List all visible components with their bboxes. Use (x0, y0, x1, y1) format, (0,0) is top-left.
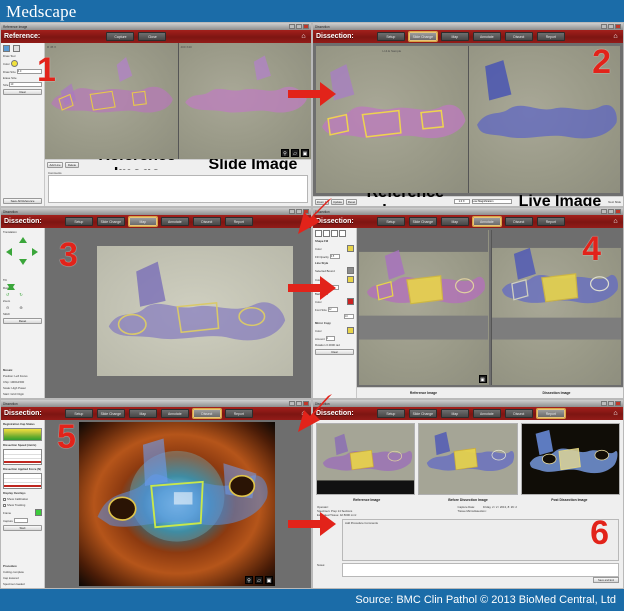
comments-placeholder: Add Procedure Comments (345, 521, 378, 525)
color-swatch-yellow[interactable] (347, 276, 354, 283)
registration-cap-status-title: Registration Cap Status (3, 422, 42, 426)
app-title: Dissection: (316, 33, 354, 40)
tissue-outline-svg (359, 230, 488, 340)
color-swatch-yellow[interactable] (11, 60, 18, 67)
app-bar: Dissection: Setup Slide Change Map Annot… (313, 407, 623, 420)
nav-left-icon[interactable] (6, 248, 12, 256)
window-buttons[interactable] (601, 401, 621, 406)
add-line-button[interactable]: Add Line (47, 162, 63, 168)
font-size-input[interactable]: 12 (328, 307, 338, 312)
app-toolbar: Setup Slide Change Map Annotate Dissect … (65, 409, 253, 418)
arrow-3-to-4 (286, 272, 338, 304)
thumbnail-before-dissection[interactable] (418, 423, 517, 495)
magnification-value[interactable]: 1.0 X (454, 199, 470, 204)
nav-up-icon[interactable] (19, 237, 27, 243)
tissue-overlay-svg (79, 422, 275, 577)
mosaic-status-line: Scale: High Power (3, 386, 42, 390)
dissection-image-caption: Dissection Image (490, 391, 623, 395)
tissue-outline-svg (97, 246, 293, 364)
rotate-cw-icon[interactable]: ↻ (19, 292, 22, 297)
callout-number-6: 6 (590, 516, 609, 550)
image-tool-icons[interactable]: ⚲ ▱ ▣ (245, 576, 273, 584)
app-bar: Dissection: Setup Slide Change Map Annot… (1, 407, 311, 420)
panel-body: Reference Image Before Dissection Image … (313, 420, 623, 588)
tissue-outline-svg (45, 43, 177, 133)
minimize-icon[interactable] (601, 24, 607, 29)
toolbar-button-annotate[interactable]: Annotate (161, 409, 189, 418)
close-icon[interactable] (615, 24, 621, 29)
nav-down-icon[interactable] (19, 259, 27, 265)
app-toolbar: Setup Slide Change Map Annotate Dissect … (377, 32, 565, 41)
color-swatch-green[interactable] (35, 509, 42, 516)
checkbox-show-tracking[interactable] (3, 504, 6, 507)
callout-number-5: 5 (57, 420, 76, 454)
window-chrome: Dissection (313, 208, 623, 215)
amount-input[interactable]: 2 (326, 336, 335, 341)
tissue-microdissection-label: Tissue Microdissection: (458, 509, 619, 513)
rotate-ccw-icon[interactable]: ↺ (6, 292, 9, 297)
window-chrome: Dissection (1, 208, 311, 215)
window-title: Reference Image (3, 25, 27, 29)
window-chrome: Dissection (313, 400, 623, 407)
window-title: Dissection (315, 25, 330, 29)
toolbar-button-report[interactable]: Report (537, 32, 565, 41)
close-icon[interactable] (615, 401, 621, 406)
toolbar-button-map[interactable]: Map (129, 409, 157, 418)
minimize-icon[interactable] (601, 209, 607, 214)
zoom-in-icon[interactable]: ⊕ (19, 305, 22, 310)
label-size: Size (3, 83, 8, 87)
source-bar: Source: BMC Clin Pathol © 2013 BioMed Ce… (0, 589, 624, 611)
procedure-status-line: Cap lowered (3, 576, 42, 580)
medscape-logo: Medscape (0, 3, 77, 20)
toolbar-button-report[interactable]: Report (537, 217, 565, 226)
tissue-outline-svg (522, 424, 619, 494)
toolbar-button-slide-change[interactable]: Slide Change (409, 217, 437, 226)
dissect-stage[interactable]: ⚲ ▱ ▣ (45, 420, 311, 588)
tissue-outline-svg (492, 230, 621, 340)
toolbar-button-slide-change[interactable]: Slide Change (409, 409, 437, 418)
reset-button[interactable]: Reset (3, 318, 42, 324)
capture-label: Capture (3, 519, 13, 523)
reference-image-4[interactable]: ▣ (359, 230, 489, 385)
maximize-icon[interactable] (608, 209, 614, 214)
window-title: Dissection (3, 402, 18, 406)
reset-button[interactable]: Reset (346, 199, 357, 205)
comments-textarea[interactable] (48, 175, 308, 203)
fill-opacity-label: Fill Opacity (315, 255, 329, 259)
mosaic-image[interactable] (97, 246, 293, 376)
close-icon[interactable] (303, 24, 309, 29)
camera-icon[interactable]: ▣ (479, 375, 487, 383)
callout-number-1: 1 (37, 53, 56, 87)
toolbar-button-annotate[interactable]: Annotate (161, 217, 189, 226)
app-bar: Dissection: Setup Slide Change Map Annot… (313, 30, 623, 43)
toolbar-button-dissect[interactable]: Dissect (505, 32, 533, 41)
mirror-color-label: Color (315, 329, 322, 333)
panel-body: Shape Fill Color Fill Opacity 0.5 Line S… (313, 228, 623, 398)
panel-2-slide-change: Dissection Dissection: Setup Slide Chang… (312, 22, 624, 207)
maximize-icon[interactable] (608, 401, 614, 406)
shape-icon[interactable] (339, 230, 346, 237)
camera-icon-group[interactable]: ▣ (479, 375, 487, 383)
image-stage: R 45 X 400 X40 (45, 43, 311, 206)
nav-right-icon[interactable] (32, 248, 38, 256)
app-bar: Dissection: Setup Slide Change Map Annot… (313, 215, 623, 228)
tilt-up-icon[interactable] (7, 284, 15, 290)
app-toolbar: Setup Slide Change Map Annotate Dissect … (65, 217, 253, 226)
report-form: Operator: Specimen: Prep 14 Sections Est… (313, 502, 623, 586)
maximize-icon[interactable] (296, 24, 302, 29)
save-all-reference-button[interactable]: Save All Reference (3, 198, 42, 204)
panel-body: Translation Tilt Rotate ↺↻ Zoom (1, 228, 311, 398)
thumbnail-post-dissection[interactable] (521, 423, 620, 495)
color-swatch-yellow[interactable] (347, 327, 354, 334)
tissue-outline-svg (316, 46, 467, 162)
draw-tool-icon[interactable] (3, 45, 10, 52)
arrow-5-to-6 (286, 508, 338, 540)
capture-date-value: Friday, 2 / 2 / 2013, 8: 26: 2 (483, 505, 517, 509)
clear-button[interactable]: Clear (3, 89, 42, 95)
source-text: Source: BMC Clin Pathol © 2013 BioMed Ce… (355, 594, 616, 606)
tissue-outline-svg (317, 424, 414, 494)
toolbar-button-annotate[interactable]: Annotate (473, 409, 501, 418)
toolbar-button-dissect[interactable]: Dissect (505, 409, 533, 418)
medscape-banner: Medscape (0, 0, 624, 22)
amount-label: Amount (315, 337, 325, 341)
registration-cap-gradient (3, 428, 42, 441)
rotation-label: Rotation (315, 343, 325, 347)
app-title: Dissection: (4, 410, 42, 417)
notes-textarea[interactable] (342, 563, 619, 577)
toolbar-button-setup[interactable]: Setup (377, 32, 405, 41)
checkbox-label: Show Calibration (7, 497, 28, 501)
map-stage[interactable] (45, 228, 311, 398)
toolbar-button-setup[interactable]: Setup (377, 409, 405, 418)
app-title: Dissection: (4, 218, 42, 225)
color-swatch-red[interactable] (347, 298, 354, 305)
toolbar-button-map[interactable]: Map (441, 32, 469, 41)
tissue-outline-svg (419, 424, 516, 494)
home-icon[interactable]: ⌂ (611, 32, 620, 41)
toolbar-button-dissect[interactable]: Dissect (193, 217, 221, 226)
toolbar-button-map[interactable]: Map (441, 217, 469, 226)
color-swatch-yellow[interactable] (347, 245, 354, 252)
panel-6-report: Dissection Dissection: Setup Slide Chang… (312, 399, 624, 589)
panel-1-reference: Reference Image Reference: Capture Close… (0, 22, 312, 207)
notes-label: Notes: (317, 563, 339, 567)
toolbar-button-slide-change[interactable]: Slide Change (97, 409, 125, 418)
mirror-copy-title: Mirror Copy (315, 321, 354, 325)
text-extra-input[interactable]: 10 (344, 314, 354, 319)
mosaic-status-line: Start: Grid Origin (3, 392, 42, 396)
checkbox-label: Show Tracking (7, 503, 25, 507)
stitch-label: Stitch (3, 312, 42, 316)
home-icon[interactable]: ⌂ (611, 217, 620, 226)
toolbar-button-report[interactable]: Report (225, 217, 253, 226)
display-overlays-title: Display Overlays (3, 491, 42, 495)
toolbar-button-close[interactable]: Close (138, 32, 166, 41)
window-chrome: Dissection (1, 400, 311, 407)
callout-number-3: 3 (59, 238, 78, 272)
ruler-icon[interactable]: ▱ (291, 149, 299, 157)
dissection-force-plot (3, 473, 42, 489)
arrow-2-to-3 (292, 196, 336, 236)
fill-opacity-input[interactable]: 0.5 (330, 254, 340, 259)
window-buttons[interactable] (601, 209, 621, 214)
window-buttons[interactable] (289, 24, 309, 29)
translation-sidebar: Translation Tilt Rotate ↺↻ Zoom (1, 228, 45, 398)
magnification-select[interactable]: Low Magnification (472, 199, 512, 204)
label-draw-size: Draw Size (3, 70, 16, 74)
toolbar-button-dissect[interactable]: Dissect (193, 409, 221, 418)
maximize-icon[interactable] (608, 24, 614, 29)
dissection-status-sidebar: Registration Cap Status Dissection Speed… (1, 420, 45, 588)
home-icon[interactable]: ⌂ (299, 32, 308, 41)
line-style-title: Line Style (315, 261, 354, 265)
rotation-value: 0.0000 rad (326, 343, 339, 347)
checkbox-show-calibration[interactable] (3, 498, 6, 501)
delete-button[interactable]: Delete (65, 162, 79, 168)
live-image-caption: Live Image (514, 193, 607, 208)
mosaic-status-title: Mosaic (3, 368, 42, 372)
toolbar-button-setup[interactable]: Setup (377, 217, 405, 226)
erase-tool-icon[interactable] (13, 45, 20, 52)
tilt-label: Tilt (3, 278, 42, 282)
dissection-force-title: Dissection Applied Force (N) (3, 467, 42, 471)
ruler-icon[interactable]: ▱ (255, 576, 263, 584)
callout-number-4: 4 (582, 232, 601, 266)
dissection-speed-plot (3, 449, 42, 465)
shape-fill-title: Shape Fill (315, 239, 354, 243)
mosaic-status-line: Position: Left Focus (3, 374, 42, 378)
window-chrome: Dissection (313, 23, 623, 30)
camera-icon[interactable]: ▣ (301, 149, 309, 157)
window-chrome: Reference Image (1, 23, 311, 30)
next-slide-button[interactable]: Next Slide (608, 200, 621, 204)
color-swatch-gray[interactable] (347, 267, 354, 274)
toolbar-button-capture[interactable]: Capture (106, 32, 134, 41)
app-bar: Dissection: Setup Slide Change Map Annot… (1, 215, 311, 228)
arrow-4-to-5 (292, 392, 336, 434)
mosaic-status-line: Chip: 1900x1500 (3, 380, 42, 384)
annotation-properties-sidebar: Shape Fill Color Fill Opacity 0.5 Line S… (313, 228, 357, 398)
toolbar-button-dissect[interactable]: Dissect (505, 217, 533, 226)
procedure-status-title: Procedure (3, 564, 42, 568)
minimize-icon[interactable] (289, 24, 295, 29)
zoom-label: Zoom (3, 299, 42, 303)
translation-dpad[interactable] (3, 236, 42, 276)
panel-5-dissect: Dissection Dissection: Setup Slide Chang… (0, 399, 312, 589)
report-thumbnails (313, 420, 623, 498)
comments-textarea[interactable]: Add Procedure Comments (342, 519, 619, 561)
callout-number-2: 2 (592, 45, 611, 79)
toolbar-button-slide-change[interactable]: Slide Change (97, 217, 125, 226)
live-dissection-image[interactable]: ⚲ ▱ ▣ (79, 422, 275, 586)
toolbar-button-setup[interactable]: Setup (65, 217, 93, 226)
toolbar-button-annotate[interactable]: Annotate (473, 217, 501, 226)
toolbar-button-annotate[interactable]: Annotate (473, 32, 501, 41)
pin-icon[interactable]: ⚲ (281, 149, 289, 157)
procedure-status-line: Specimen loaded (3, 582, 42, 586)
toolbar-button-setup[interactable]: Setup (65, 409, 93, 418)
dissection-image-4[interactable] (491, 230, 622, 385)
start-button[interactable]: Start (3, 525, 42, 531)
procedure-status-line: Cutting complete (3, 570, 42, 574)
toolbar-button-report[interactable]: Report (225, 409, 253, 418)
app-bar: Reference: Capture Close ⌂ (1, 30, 311, 43)
close-icon[interactable] (615, 209, 621, 214)
reference-image-1[interactable]: R 45 X (45, 43, 178, 159)
font-size-label: Font Size (315, 308, 327, 312)
panel-body: Registration Cap Status Dissection Speed… (1, 420, 311, 588)
panel-4-annotate: Dissection Dissection: Setup Slide Chang… (312, 207, 624, 399)
frame-label: Frame (3, 511, 11, 515)
save-and-exit-button[interactable]: Save and Exit (593, 577, 619, 583)
zoom-out-icon[interactable]: ⊖ (6, 305, 9, 310)
clear-button[interactable]: Clear (315, 349, 354, 355)
capture-select[interactable] (14, 518, 28, 523)
window-title: Dissection (3, 210, 18, 214)
panel-3-map: Dissection Dissection: Setup Slide Chang… (0, 207, 312, 399)
minimize-icon[interactable] (601, 401, 607, 406)
panel-body: H & E Sample Zoo (313, 43, 623, 206)
toolbar-button-map[interactable]: Map (441, 409, 469, 418)
translation-heading: Translation (3, 230, 42, 234)
reference-image-2[interactable]: H & E Sample (316, 46, 468, 193)
app-toolbar: Setup Slide Change Map Annotate Dissect … (377, 217, 565, 226)
label-color: Color (3, 62, 10, 66)
dissection-speed-title: Dissection Speed (mm/s) (3, 443, 42, 447)
toolbar-button-slide-change[interactable]: Slide Change (409, 32, 437, 41)
reference-image-caption: Reference Image (357, 391, 490, 395)
camera-icon[interactable]: ▣ (265, 576, 273, 584)
toolbar-button-map[interactable]: Map (129, 217, 157, 226)
toolbar-button-report[interactable]: Report (537, 409, 565, 418)
app-title: Reference: (4, 33, 40, 40)
home-icon[interactable]: ⌂ (611, 409, 620, 418)
shape-fill-color-label: Color (315, 247, 322, 251)
arrow-1-to-2 (286, 78, 338, 110)
app-toolbar: Setup Slide Change Map Annotate Dissect … (377, 409, 565, 418)
window-buttons[interactable] (601, 24, 621, 29)
pin-icon[interactable]: ⚲ (245, 576, 253, 584)
app-toolbar: Capture Close (106, 32, 166, 41)
image-tool-icons[interactable]: ⚲ ▱ ▣ (281, 149, 309, 157)
